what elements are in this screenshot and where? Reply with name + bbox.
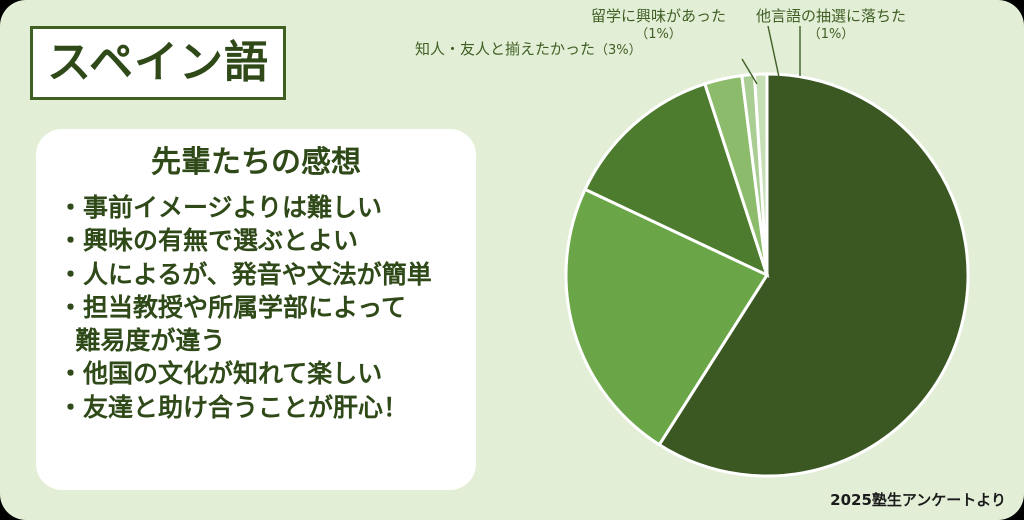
list-item: 難易度が違う (58, 324, 476, 357)
list-item: ・人によるが、発音や文法が簡単 (58, 258, 476, 291)
list-item: ・興味の有無で選ぶとよい (58, 224, 476, 257)
language-title-plate: スペイン語 (30, 26, 286, 100)
page-title: スペイン語 (47, 41, 269, 85)
callout-study-abroad: 留学に興味があった （1%） (591, 6, 726, 44)
callout-percent: （3%） (595, 43, 642, 58)
list-item: ・担当教授や所属学部によって (58, 291, 476, 324)
list-item: ・他国の文化が知れて楽しい (58, 357, 476, 390)
callout-percent: （1%） (591, 26, 726, 44)
senior-impressions-card: 先輩たちの感想 ・事前イメージよりは難しい ・興味の有無で選ぶとよい ・人による… (36, 129, 476, 490)
list-item: ・友達と助け合うことが肝心！ (58, 391, 476, 424)
screenshot-canvas: スペイン語 先輩たちの感想 ・事前イメージよりは難しい ・興味の有無で選ぶとよい… (0, 0, 1024, 520)
notes-heading: 先輩たちの感想 (36, 145, 476, 181)
pie-chart-svg (520, 0, 1024, 520)
notes-list: ・事前イメージよりは難しい ・興味の有無で選ぶとよい ・人によるが、発音や文法が… (36, 191, 476, 424)
callout-label: 留学に興味があった (591, 7, 726, 25)
callout-label: 他言語の抽選に落ちた (756, 7, 906, 25)
survey-source-credit: 2025塾生アンケートより (830, 489, 1006, 510)
slide-board: スペイン語 先輩たちの感想 ・事前イメージよりは難しい ・興味の有無で選ぶとよい… (0, 0, 1024, 520)
pie-chart: 個人的に 興味があった 59% 単位の 取得が容易 23% 将来や 就職に役立つ… (520, 0, 1024, 520)
callout-label: 知人・友人と揃えたかった (415, 40, 595, 58)
callout-other-language-lottery: 他言語の抽選に落ちた （1%） (756, 6, 906, 44)
list-item: ・事前イメージよりは難しい (58, 191, 476, 224)
pie-slices (566, 74, 968, 476)
callout-percent: （1%） (756, 26, 906, 44)
